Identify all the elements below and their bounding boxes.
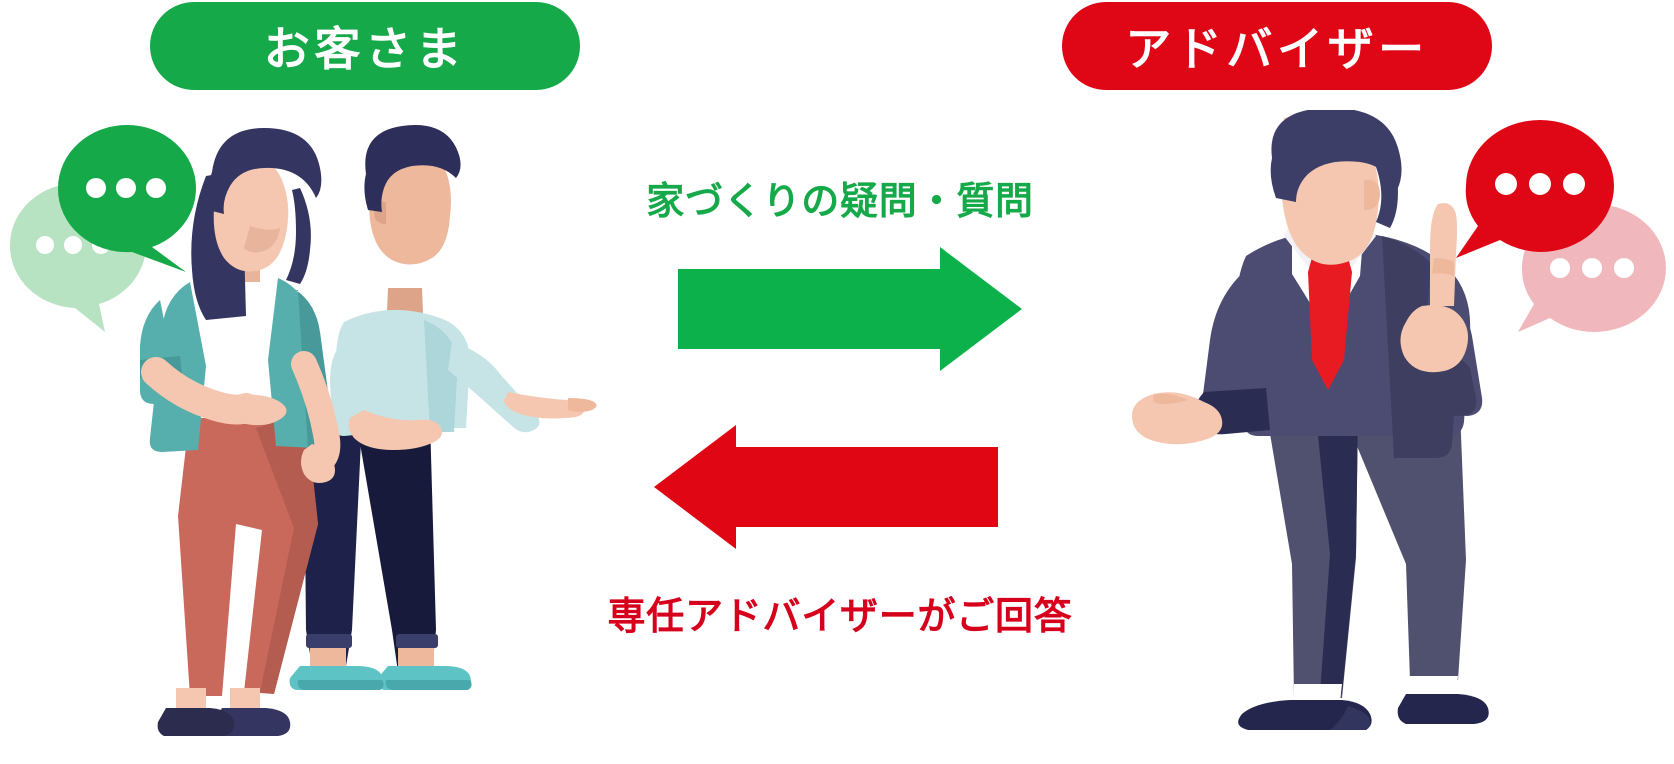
arrow-customer-to-advisor-icon bbox=[678, 247, 1022, 371]
advisor-illustration bbox=[1130, 110, 1674, 730]
advisor-man-figure bbox=[1132, 110, 1489, 730]
customer-man-figure bbox=[290, 125, 597, 690]
arrow-advisor-to-customer-icon bbox=[654, 425, 998, 549]
advisor-heading-label: アドバイザー bbox=[1125, 13, 1429, 79]
customer-heading-label: お客さま bbox=[264, 13, 466, 79]
diagram-canvas: お客さま アドバイザー 家づくりの疑問・質問 専任アドバイザーがご回答 bbox=[0, 0, 1674, 764]
advisor-heading-pill: アドバイザー bbox=[1062, 2, 1492, 90]
question-flow-label: 家づくりの疑問・質問 bbox=[540, 170, 1140, 225]
customer-couple-illustration bbox=[0, 110, 620, 764]
answer-flow-label: 専任アドバイザーがご回答 bbox=[540, 585, 1140, 640]
customer-heading-pill: お客さま bbox=[150, 2, 580, 90]
